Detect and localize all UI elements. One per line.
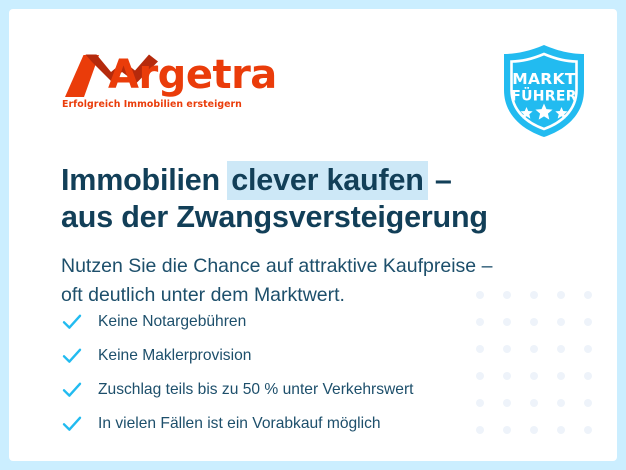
benefit-list: Keine NotargebührenKeine Maklerprovision… xyxy=(61,306,531,442)
pattern-dot xyxy=(530,372,538,380)
logo-tagline: Erfolgreich Immobilien ersteigern xyxy=(62,99,242,110)
headline-highlight: clever kaufen xyxy=(227,161,427,200)
subheadline-line-1: Nutzen Sie die Chance auf attraktive Kau… xyxy=(61,252,561,281)
pattern-dot xyxy=(584,291,592,299)
argetra-logo[interactable]: Argetra Erfolgreich Immobilien ersteiger… xyxy=(61,51,261,119)
market-leader-badge: MARKT FÜHRER xyxy=(498,43,590,139)
logo-mark-wrap: Argetra xyxy=(61,51,261,99)
pattern-dot xyxy=(557,345,565,353)
benefit-label: Keine Notargebühren xyxy=(98,312,246,332)
benefit-item: Keine Notargebühren xyxy=(61,306,531,337)
headline-post-text: – xyxy=(427,163,452,197)
pattern-dot xyxy=(530,399,538,407)
pattern-dot xyxy=(557,399,565,407)
pattern-dot xyxy=(557,372,565,380)
pattern-dot xyxy=(557,426,565,434)
check-icon xyxy=(61,311,83,333)
benefit-label: Zuschlag teils bis zu 50 % unter Verkehr… xyxy=(98,380,413,400)
pattern-dot xyxy=(584,345,592,353)
check-icon xyxy=(61,345,83,367)
pattern-dot xyxy=(557,318,565,326)
banner-card: Argetra Erfolgreich Immobilien ersteiger… xyxy=(9,9,617,461)
pattern-dot xyxy=(530,318,538,326)
badge-line2-text: FÜHRER xyxy=(511,87,577,105)
pattern-dot xyxy=(530,345,538,353)
pattern-dot xyxy=(530,426,538,434)
subheadline: Nutzen Sie die Chance auf attraktive Kau… xyxy=(61,252,561,310)
benefit-label: In vielen Fällen ist ein Vorabkauf mögli… xyxy=(98,414,381,434)
advertisement-banner: Argetra Erfolgreich Immobilien ersteiger… xyxy=(0,0,626,470)
pattern-dot xyxy=(584,426,592,434)
check-icon xyxy=(61,413,83,435)
logo-wordmark: Argetra xyxy=(108,52,277,98)
benefit-item: Zuschlag teils bis zu 50 % unter Verkehr… xyxy=(61,374,531,405)
shield-badge-icon: MARKT FÜHRER xyxy=(498,43,590,139)
pattern-dot xyxy=(584,372,592,380)
check-icon xyxy=(61,379,83,401)
benefit-item: In vielen Fällen ist ein Vorabkauf mögli… xyxy=(61,408,531,439)
headline-line-2: aus der Zwangsversteigerung xyxy=(61,199,541,236)
pattern-dot xyxy=(584,318,592,326)
benefit-label: Keine Maklerprovision xyxy=(98,346,251,366)
headline-line-1: Immobilien clever kaufen – xyxy=(61,162,541,199)
headline: Immobilien clever kaufen – aus der Zwang… xyxy=(61,162,541,236)
headline-pre-text: Immobilien xyxy=(61,163,228,197)
benefit-item: Keine Maklerprovision xyxy=(61,340,531,371)
badge-line1-text: MARKT xyxy=(512,70,576,88)
pattern-dot xyxy=(584,399,592,407)
